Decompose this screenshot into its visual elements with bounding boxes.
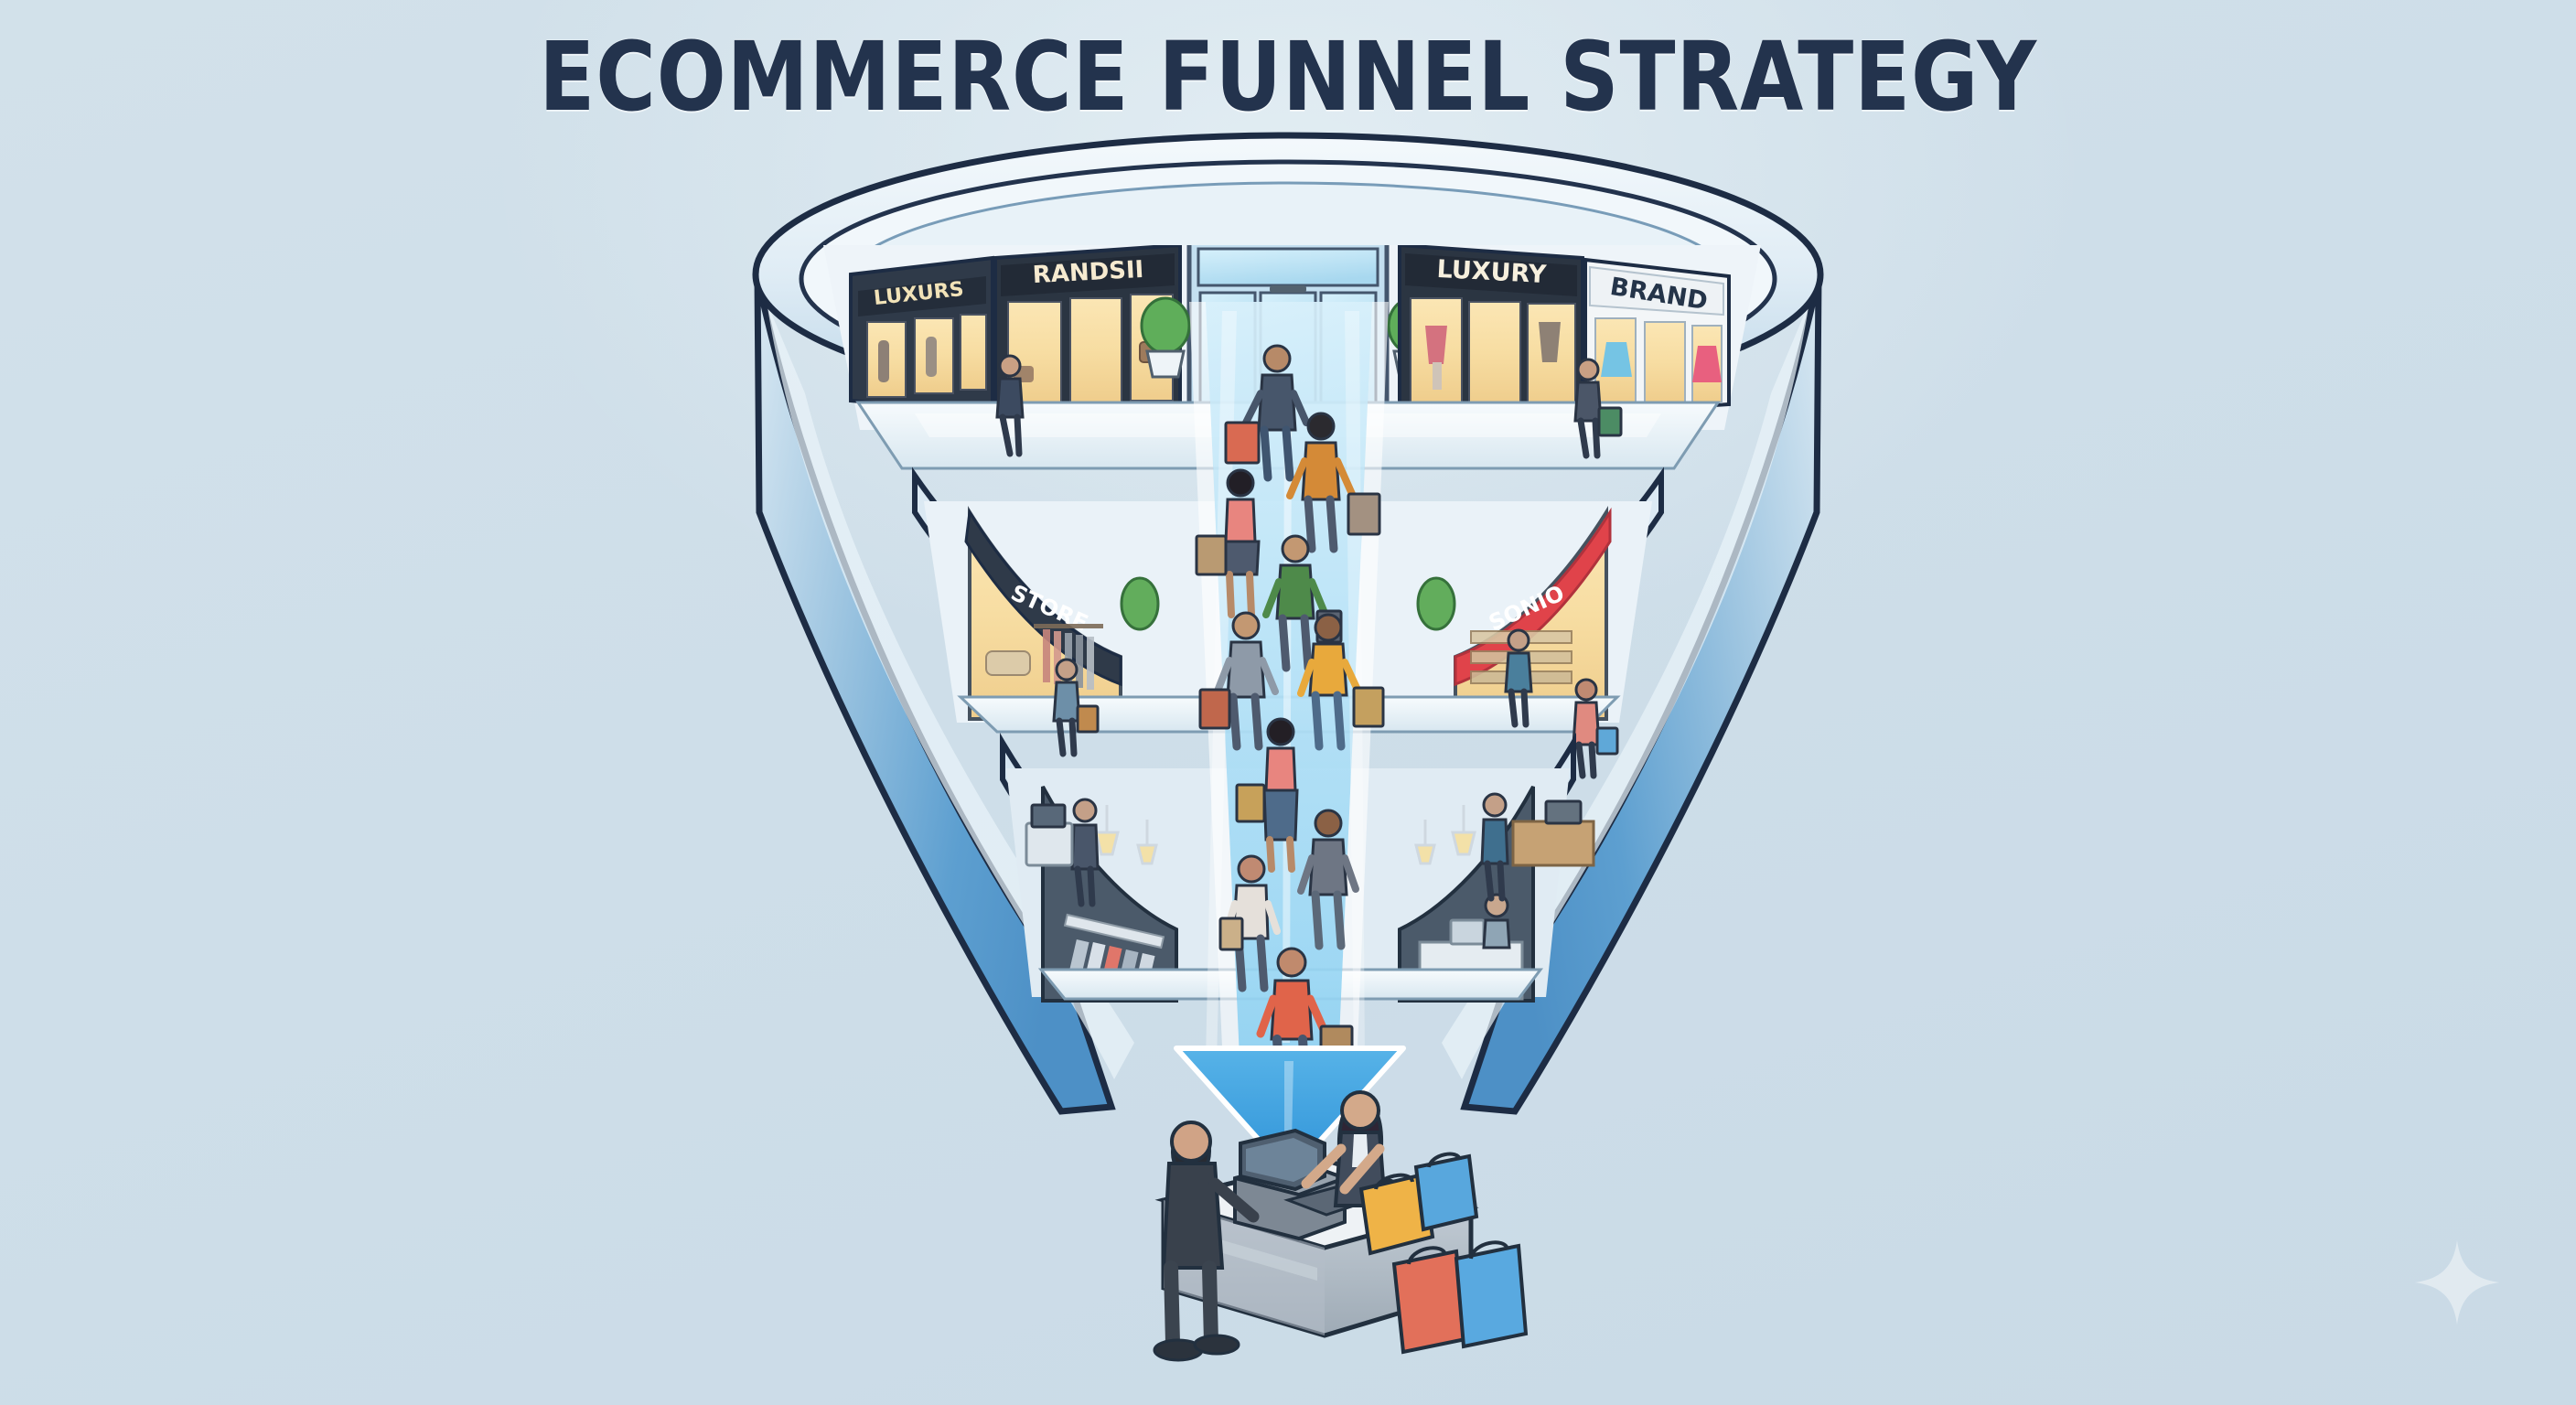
storefront-luxury[interactable]: LUXURY <box>1400 245 1583 413</box>
storefront-brand[interactable]: BRAND <box>1585 260 1729 413</box>
shopping-bag-blue <box>1416 1154 1476 1229</box>
storefront-sign-randsii: RANDSII <box>1032 256 1144 289</box>
potted-plant-tier2-right <box>1418 578 1454 629</box>
title-bar: ECOMMERCE FUNNEL STRATEGY <box>0 26 2576 128</box>
shopping-bag-blue-2 <box>1456 1242 1526 1346</box>
checkout-counter[interactable] <box>1154 1092 1526 1360</box>
potted-plant-left <box>1142 298 1189 377</box>
storefront-luxurs[interactable]: LUXURS <box>851 258 993 413</box>
storefront-sign-luxury: LUXURY <box>1436 255 1548 289</box>
funnel-illustration: LUXURS RANDSII <box>0 0 2576 1405</box>
funnel-svg: LUXURS RANDSII <box>0 0 2576 1405</box>
sparkle-icon <box>2413 1239 2501 1326</box>
shopping-bag-red <box>1394 1248 1465 1352</box>
potted-plant-tier2-left <box>1122 578 1158 629</box>
page-title: ECOMMERCE FUNNEL STRATEGY <box>539 26 2037 128</box>
